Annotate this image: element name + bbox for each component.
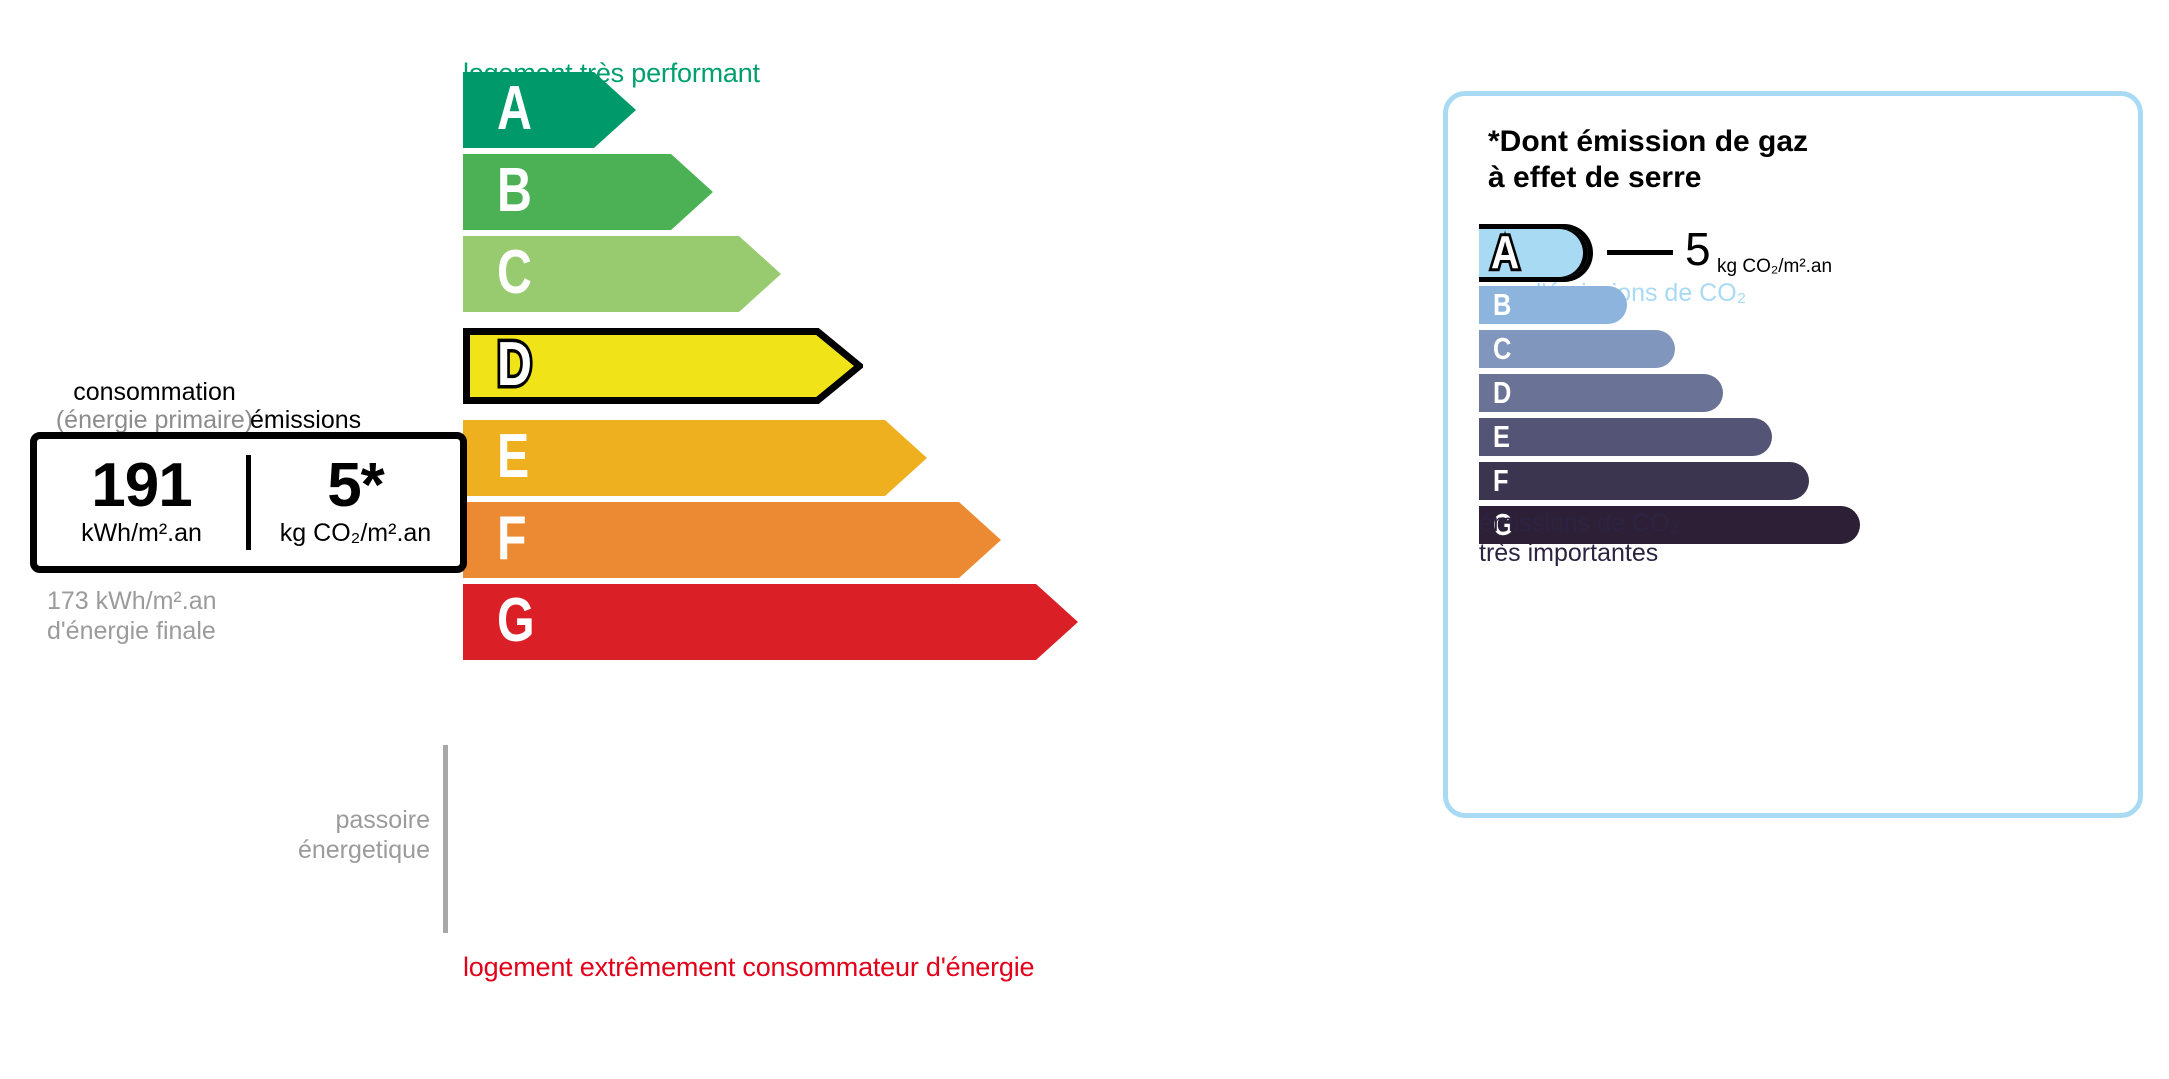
co2-panel-title: *Dont émission de gaz à effet de serre xyxy=(1488,124,1808,196)
final-energy-label: 173 kWh/m².an d'énergie finale xyxy=(47,586,217,646)
energy-class-row-d: D xyxy=(463,328,863,404)
co2-title-line1: *Dont émission de gaz xyxy=(1488,125,1808,158)
co2-title-line2: à effet de serre xyxy=(1488,161,1701,194)
energy-class-row-a: A xyxy=(463,72,636,148)
co2-value-unit: kg CO₂/m².an xyxy=(1717,256,1832,278)
final-energy-line2: d'énergie finale xyxy=(47,617,216,645)
consumption-label-line2: (énergie primaire) xyxy=(56,406,253,434)
co2-bottom-caption: émissions de CO₂ très importantes xyxy=(1479,508,1679,568)
passoire-label: passoire énergetique xyxy=(240,805,430,865)
energy-performance-diagram: logement très performant ABCDEFG logemen… xyxy=(0,0,1400,1079)
energy-class-row-c: C xyxy=(463,236,781,312)
co2-class-row-c: C xyxy=(1479,330,2119,368)
co2-class-row-a: A5kg CO₂/m².an xyxy=(1479,224,2119,282)
passoire-label-line2: énergetique xyxy=(298,836,430,864)
energy-class-letter-f: F xyxy=(497,508,527,570)
passoire-label-line1: passoire xyxy=(336,806,431,834)
co2-class-row-b: B xyxy=(1479,286,2119,324)
emission-unit: kg CO₂/m².an xyxy=(280,519,431,548)
co2-class-letter-e: E xyxy=(1493,421,1510,452)
primary-energy-cell: 191 kWh/m².an xyxy=(37,439,246,566)
energy-class-row-b: B xyxy=(463,154,713,230)
co2-value: 5 xyxy=(1685,226,1711,272)
energy-class-row-e: E xyxy=(463,420,927,496)
co2-class-letter-b: B xyxy=(1493,289,1511,320)
energy-class-row-g: G xyxy=(463,584,1078,660)
co2-bottom-caption-line2: très importantes xyxy=(1479,539,1658,567)
energy-arrow-g xyxy=(463,584,1078,660)
co2-class-row-f: F xyxy=(1479,462,2119,500)
consumption-label: consommation (énergie primaire) xyxy=(47,378,262,434)
co2-class-letter-a: A xyxy=(1491,229,1519,275)
co2-leader-line xyxy=(1607,250,1673,255)
co2-class-row-d: D xyxy=(1479,374,2119,412)
co2-emissions-panel: *Dont émission de gaz à effet de serre p… xyxy=(1443,91,2143,818)
energy-arrow-f xyxy=(463,502,1001,578)
final-energy-line1: 173 kWh/m².an xyxy=(47,587,217,615)
energy-bottom-caption: logement extrêmement consommateur d'éner… xyxy=(463,952,1034,983)
energy-arrow-e xyxy=(463,420,927,496)
energy-arrow-a xyxy=(463,72,636,148)
emission-cell: 5* kg CO₂/m².an xyxy=(251,439,460,566)
emission-value: 5* xyxy=(327,457,384,516)
co2-bar-d xyxy=(1479,374,1723,412)
co2-class-letter-d: D xyxy=(1493,377,1511,408)
primary-energy-unit: kWh/m².an xyxy=(81,519,202,548)
co2-bar-f xyxy=(1479,462,1809,500)
co2-class-letter-c: C xyxy=(1493,333,1511,364)
energy-class-row-f: F xyxy=(463,502,1001,578)
energy-class-letter-b: B xyxy=(497,160,532,222)
co2-bar-e xyxy=(1479,418,1772,456)
energy-class-letter-g: G xyxy=(497,590,535,652)
co2-class-letter-f: F xyxy=(1493,465,1509,496)
energy-class-letter-c: C xyxy=(497,242,532,304)
energy-value-box: 191 kWh/m².an 5* kg CO₂/m².an xyxy=(30,432,467,573)
passoire-bracket-line xyxy=(443,745,448,933)
co2-class-bars: A5kg CO₂/m².anBCDEFG xyxy=(1479,224,2119,550)
co2-class-row-e: E xyxy=(1479,418,2119,456)
energy-class-letter-a: A xyxy=(497,78,532,140)
co2-bottom-caption-line1: émissions de CO₂ xyxy=(1479,509,1679,537)
energy-class-letter-d: D xyxy=(497,334,532,396)
consumption-label-line1: consommation xyxy=(73,378,236,406)
primary-energy-value: 191 xyxy=(91,457,191,516)
emissions-label: émissions xyxy=(250,406,361,435)
energy-class-letter-e: E xyxy=(497,426,529,488)
